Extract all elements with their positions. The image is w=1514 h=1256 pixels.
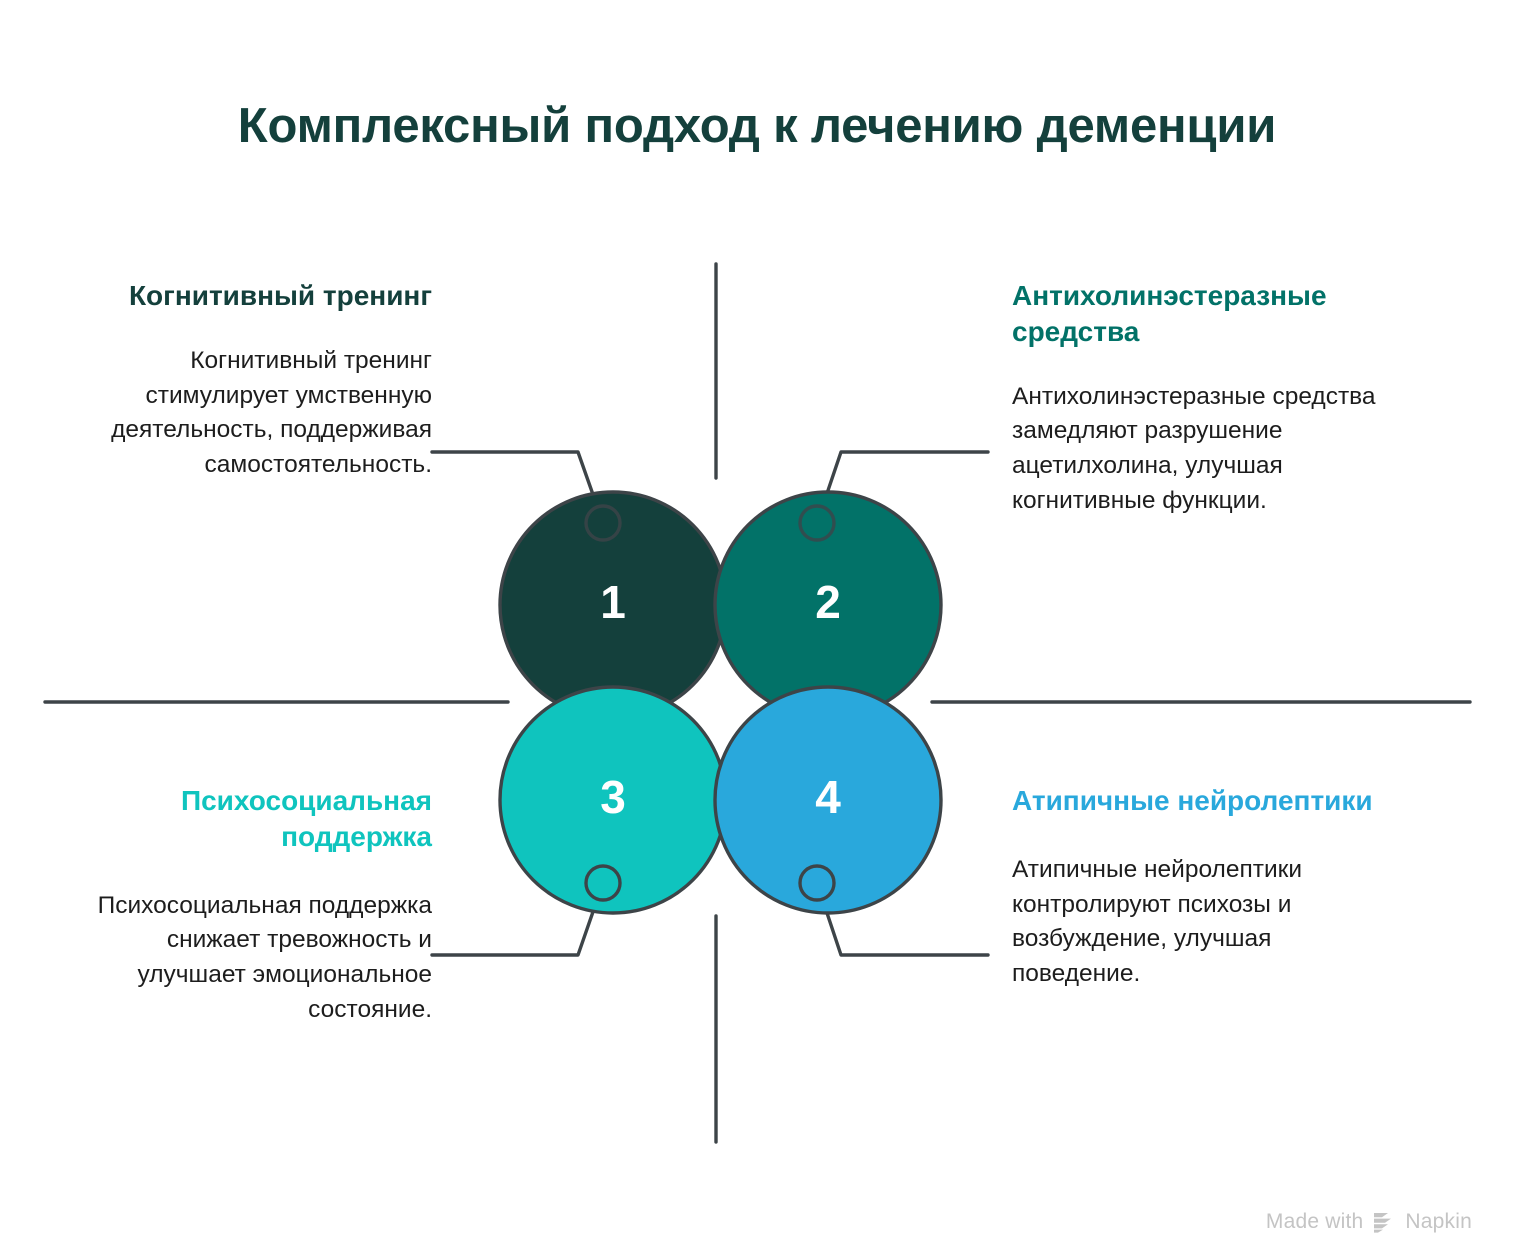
watermark: Made with Napkin [1266,1210,1472,1234]
circle-number-4: 4 [815,771,841,823]
circle-number-3: 3 [600,771,626,823]
infographic-canvas: Комплексный подход к лечению деменции Ко… [0,0,1514,1256]
venn-diagram: 1 2 3 4 [0,0,1514,1256]
watermark-brand-label: Napkin [1405,1210,1472,1234]
circle-number-2: 2 [815,576,841,628]
napkin-logo-icon [1372,1211,1396,1233]
watermark-prefix-label: Made with [1266,1210,1364,1234]
circle-number-1: 1 [600,576,626,628]
